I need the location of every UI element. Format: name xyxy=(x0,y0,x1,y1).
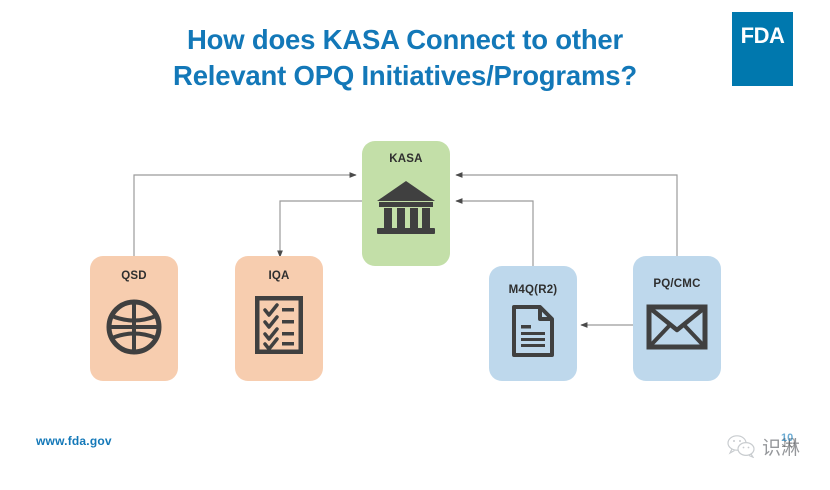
node-label-m4q: M4Q(R2) xyxy=(509,284,558,296)
connector-kasa-qsd xyxy=(134,175,356,257)
wechat-bubbles-icon xyxy=(726,434,756,463)
diagram-node-m4q[interactable]: M4Q(R2) xyxy=(489,266,577,381)
connector-pqcmc-kasa xyxy=(456,175,677,256)
diagram-node-qsd[interactable]: QSD xyxy=(90,256,178,381)
footer-url[interactable]: www.fda.gov xyxy=(36,434,112,448)
globe-icon xyxy=(105,298,163,356)
bank-building-icon xyxy=(375,179,437,237)
diagram-node-kasa[interactable]: KASA xyxy=(362,141,450,266)
checklist-icon xyxy=(255,296,303,354)
node-label-iqa: IQA xyxy=(268,270,289,282)
node-label-kasa: KASA xyxy=(389,153,422,165)
envelope-icon xyxy=(646,304,708,350)
diagram-node-iqa[interactable]: IQA xyxy=(235,256,323,381)
slide-canvas: FDA How does KASA Connect to other Relev… xyxy=(0,0,830,490)
connector-m4q-kasa xyxy=(456,201,533,266)
document-icon xyxy=(511,304,555,358)
diagram-node-pqcmc[interactable]: PQ/CMC xyxy=(633,256,721,381)
watermark: 识淋 10 xyxy=(726,434,800,463)
connector-kasa-iqa xyxy=(280,201,362,257)
watermark-badge: 10 xyxy=(781,432,793,444)
node-label-qsd: QSD xyxy=(121,270,147,282)
node-label-pqcmc: PQ/CMC xyxy=(653,278,700,290)
